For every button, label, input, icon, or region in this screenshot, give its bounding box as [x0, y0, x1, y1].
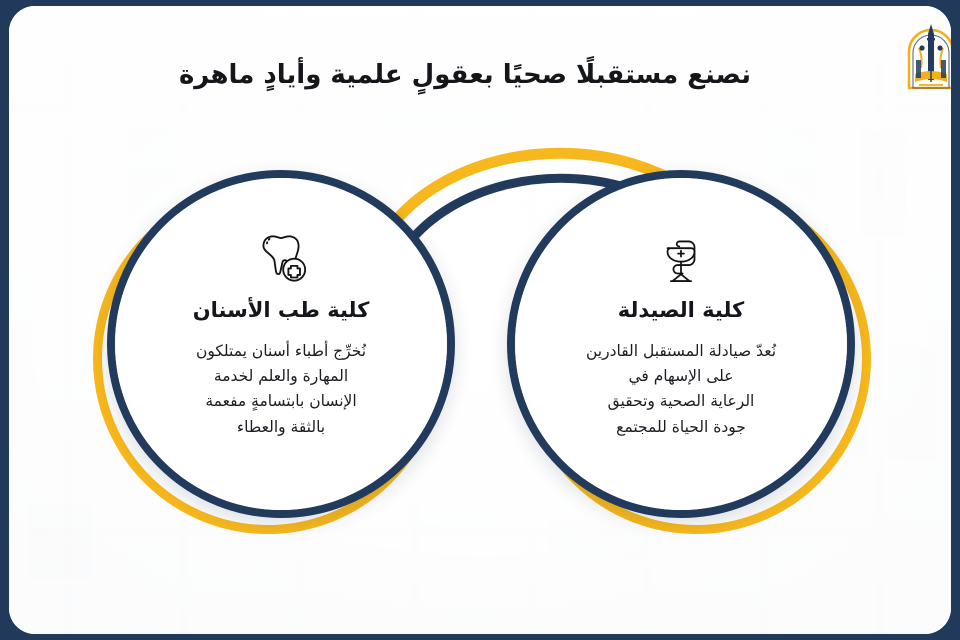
- card-pharmacy-line-2: على الإسهام في: [538, 364, 824, 389]
- card-pharmacy-title: كلية الصيدلة: [618, 298, 745, 323]
- tooth-with-medical-cross-icon: [249, 232, 313, 288]
- card-dentistry-line-3: الإنسان بابتسامةٍ مفعمة: [138, 389, 424, 414]
- page-title: نصنع مستقبلًا صحيًا بعقولٍ علمية وأيادٍ …: [9, 58, 951, 93]
- card-pharmacy-content: كلية الصيدلة نُعدّ صيادلة المستقبل القاد…: [515, 178, 847, 510]
- card-pharmacy-line-3: الرعاية الصحية وتحقيق: [538, 389, 824, 414]
- card-dentistry-line-4: بالثقة والعطاء: [138, 415, 424, 440]
- card-dentistry-content: كلية طب الأسنان نُخرِّج أطباء أسنان يمتل…: [115, 178, 447, 510]
- card-dentistry-line-1: نُخرِّج أطباء أسنان يمتلكون: [138, 339, 424, 364]
- bowl-of-hygieia-icon: [649, 232, 713, 288]
- card-pharmacy-line-1: نُعدّ صيادلة المستقبل القادرين: [538, 339, 824, 364]
- university-emblem-logo: [901, 18, 951, 94]
- poster-inner-frame: نصنع مستقبلًا صحيًا بعقولٍ علمية وأيادٍ …: [9, 6, 951, 634]
- card-pharmacy[interactable]: كلية الصيدلة نُعدّ صيادلة المستقبل القاد…: [507, 170, 871, 534]
- card-dentistry-line-2: المهارة والعلم لخدمة: [138, 364, 424, 389]
- card-dentistry[interactable]: كلية طب الأسنان نُخرِّج أطباء أسنان يمتل…: [93, 170, 457, 534]
- card-pharmacy-body: نُعدّ صيادلة المستقبل القادرين على الإسه…: [538, 339, 824, 439]
- poster-root: نصنع مستقبلًا صحيًا بعقولٍ علمية وأيادٍ …: [0, 0, 960, 640]
- card-dentistry-title: كلية طب الأسنان: [193, 298, 370, 323]
- card-pharmacy-line-4: جودة الحياة للمجتمع: [538, 415, 824, 440]
- card-dentistry-body: نُخرِّج أطباء أسنان يمتلكون المهارة والع…: [138, 339, 424, 439]
